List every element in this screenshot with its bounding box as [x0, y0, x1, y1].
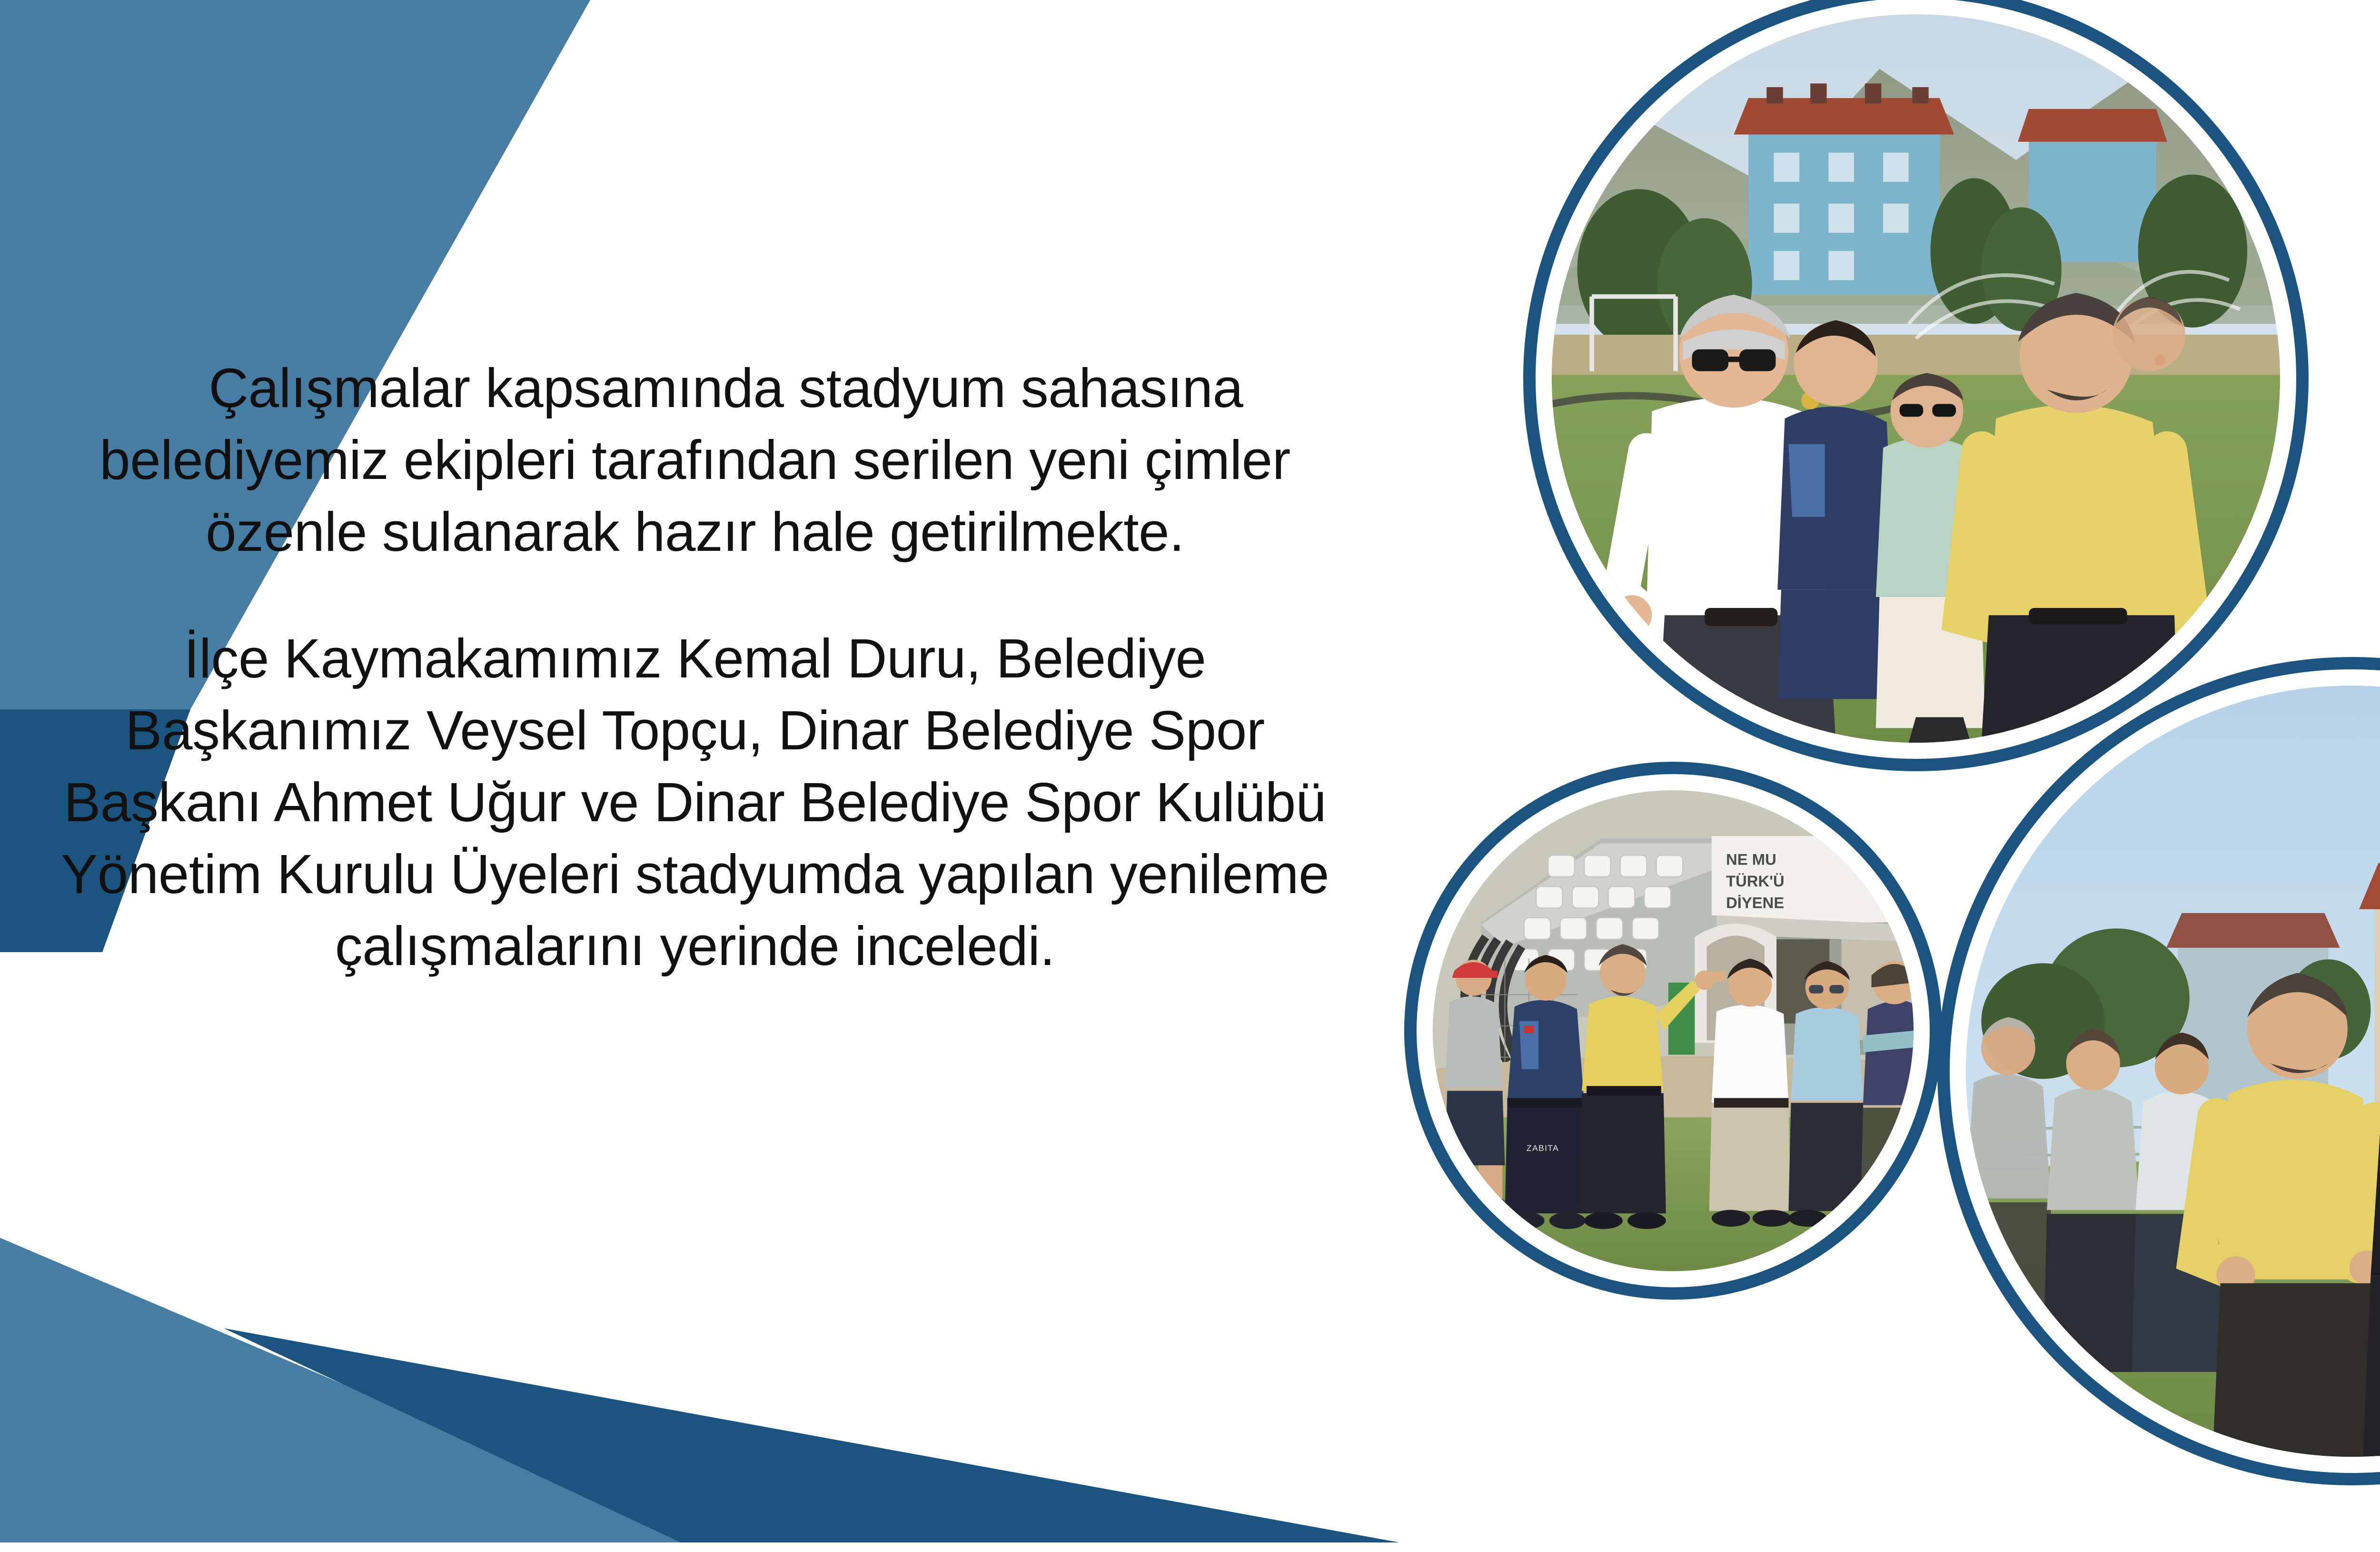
svg-text:TÜRK'Ü: TÜRK'Ü — [1726, 872, 1785, 890]
photo-bottom-right[interactable] — [1966, 686, 2380, 1457]
photo-bottom-left[interactable]: NE MU TÜRK'Ü DİYENE — [1433, 790, 1914, 1271]
photo-cluster: NE MU TÜRK'Ü DİYENE — [1404, 0, 2380, 1552]
bottom-left-light-wedge-2 — [0, 1238, 714, 1542]
svg-text:ZABITA: ZABITA — [1527, 1144, 1559, 1153]
body-text-block: Çalışmalar kapsamında stadyum sahasına b… — [43, 352, 1347, 982]
photo-top[interactable] — [1552, 14, 2280, 743]
paragraph-one: Çalışmalar kapsamında stadyum sahasına b… — [43, 352, 1347, 567]
slide-canvas: Çalışmalar kapsamında stadyum sahasına b… — [0, 0, 2380, 1542]
svg-text:NE MU: NE MU — [1726, 851, 1776, 868]
paragraph-two: İlçe Kaymakamımız Kemal Duru, Belediye B… — [43, 623, 1347, 982]
svg-text:DİYENE: DİYENE — [1726, 894, 1784, 911]
bottom-left-dark-wedge — [224, 1328, 1399, 1542]
bottom-left-light-wedge — [0, 1238, 228, 1542]
